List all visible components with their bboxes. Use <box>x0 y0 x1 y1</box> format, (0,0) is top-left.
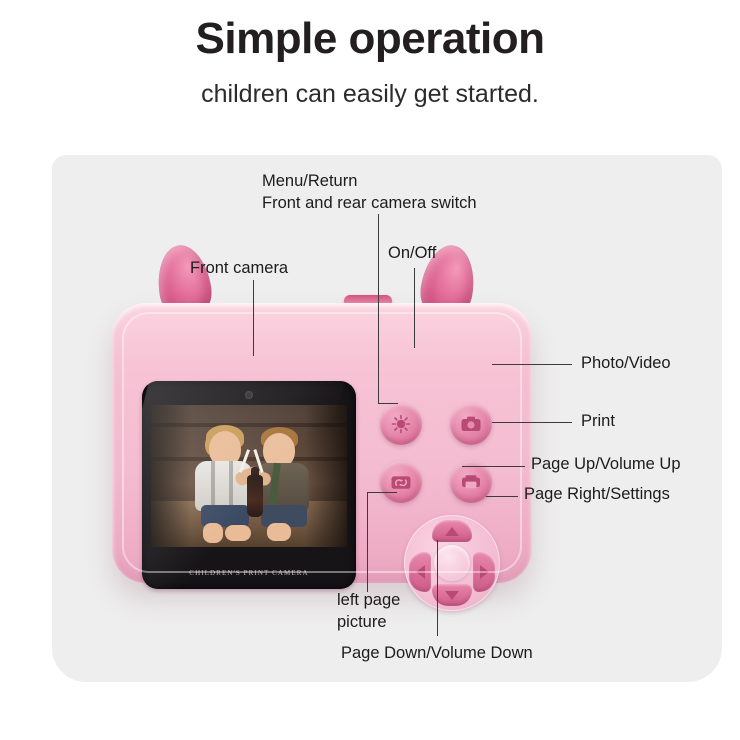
callout-on-off: On/Off <box>388 243 436 264</box>
callout-photo-video: Photo/Video <box>581 353 671 374</box>
photo-vignette <box>305 405 347 547</box>
leader-line-photo-video <box>492 364 572 365</box>
photo-vignette <box>151 405 191 547</box>
callout-menu-return: Menu/Return <box>262 171 357 192</box>
leader-line-menu-return <box>378 403 398 404</box>
leader-line-menu-return <box>378 214 379 404</box>
page-subtitle: children can easily get started. <box>0 80 740 109</box>
dpad-center[interactable] <box>434 545 470 581</box>
photo-child-left-shirt <box>195 461 253 511</box>
screen-bezel: CHILDREN'S PRINT CAMERA <box>142 381 356 589</box>
dpad <box>404 515 500 611</box>
photo-video-button[interactable] <box>450 403 492 445</box>
camera-icon <box>460 415 482 433</box>
screen-caption: CHILDREN'S PRINT CAMERA <box>142 569 356 577</box>
callout-print: Print <box>581 411 615 432</box>
callout-page-right: Page Right/Settings <box>524 484 670 505</box>
leader-line-left-page <box>367 492 368 592</box>
printer-icon <box>460 473 482 491</box>
power-sun-icon <box>391 414 411 434</box>
triangle-down-icon <box>445 591 459 600</box>
triangle-right-icon <box>480 565 489 579</box>
leader-line-left-page <box>367 492 397 493</box>
photo-child-left-stripe <box>211 461 215 511</box>
screen-photo <box>151 405 347 547</box>
leader-line-print <box>492 422 572 423</box>
callout-left-page-2: picture <box>337 612 387 633</box>
front-camera-lens-icon <box>245 391 253 399</box>
dpad-left[interactable] <box>409 552 431 592</box>
photo-child-left-leg <box>225 525 251 541</box>
triangle-up-icon <box>445 527 459 536</box>
photo-child-left-leg <box>203 523 223 543</box>
camera-switch-icon <box>390 473 412 491</box>
callout-front-camera: Front camera <box>190 258 288 279</box>
photo-bottle <box>247 475 263 517</box>
dpad-up[interactable] <box>432 520 472 542</box>
triangle-left-icon <box>416 565 425 579</box>
leader-line-page-up <box>462 466 525 467</box>
leader-line-on-off <box>414 268 415 348</box>
photo-child-right-leg <box>267 523 291 541</box>
leader-line-front-camera <box>253 280 254 356</box>
leader-line-page-right <box>486 496 518 497</box>
callout-left-page-1: left page <box>337 590 400 611</box>
infographic-stage: Simple operation children can easily get… <box>0 0 740 740</box>
camera-switch-button[interactable] <box>380 461 422 503</box>
power-button[interactable] <box>380 403 422 445</box>
camera-device: CHILDREN'S PRINT CAMERA <box>112 243 532 583</box>
callout-camera-switch: Front and rear camera switch <box>262 193 477 214</box>
leader-line-page-down <box>437 540 438 636</box>
camera-body: CHILDREN'S PRINT CAMERA <box>112 303 532 583</box>
callout-page-down: Page Down/Volume Down <box>341 643 533 664</box>
photo-child-left-stripe <box>229 461 233 511</box>
photo-child-right-shirt <box>257 463 309 511</box>
dpad-right[interactable] <box>473 552 495 592</box>
page-title: Simple operation <box>0 14 740 64</box>
callout-page-up: Page Up/Volume Up <box>531 454 681 475</box>
